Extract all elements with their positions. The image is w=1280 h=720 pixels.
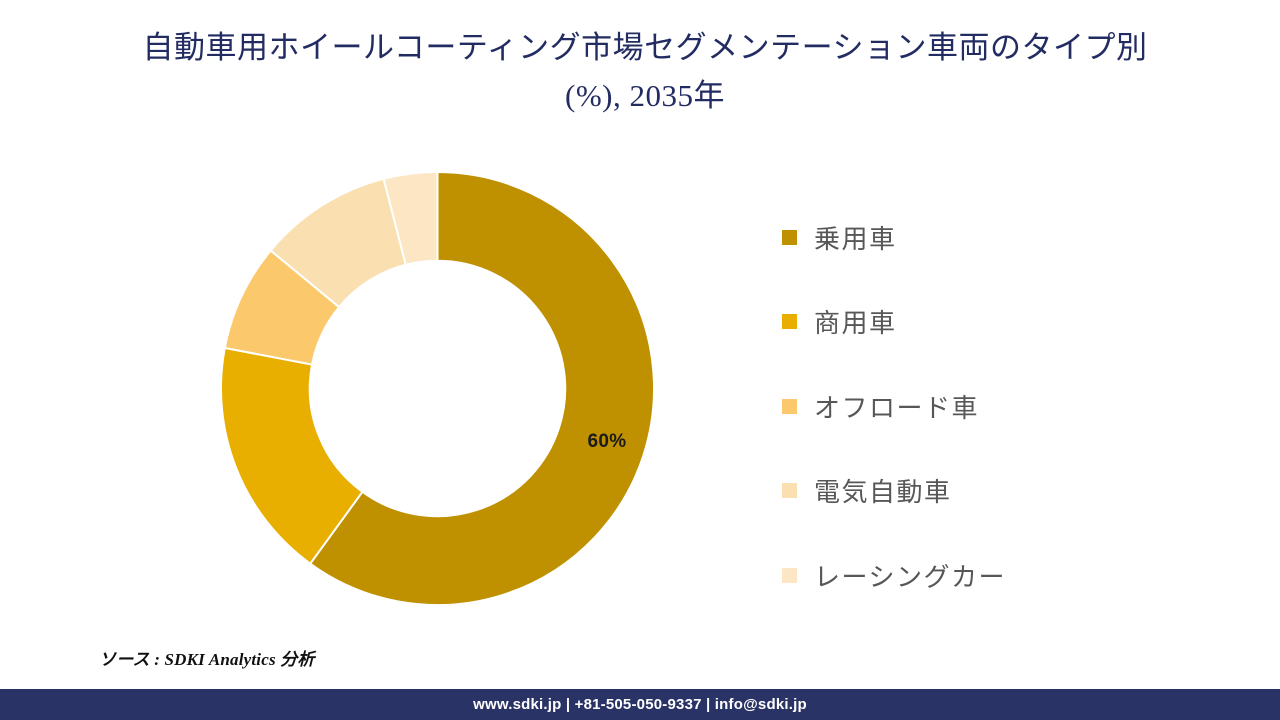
donut-slice-group <box>221 172 654 605</box>
legend-swatch-icon <box>782 568 797 583</box>
legend-item-label: 商用車 <box>814 303 897 340</box>
legend-item-label: 電気自動車 <box>814 472 952 509</box>
footer-bar: www.sdki.jp | +81-505-050-9337 | info@sd… <box>0 689 1280 720</box>
legend-swatch-icon <box>782 230 797 245</box>
legend-swatch-icon <box>782 399 797 414</box>
legend-item-label: オフロード車 <box>814 388 979 425</box>
legend-item-electric-vehicle[interactable]: 電気自動車 <box>782 449 1222 534</box>
page-title: 自動車用ホイールコーティング市場セグメンテーション車両のタイプ別 (%), 20… <box>50 24 1240 120</box>
slice-data-label-passenger-car: 60% <box>576 431 638 453</box>
footer-contact-text: www.sdki.jp | +81-505-050-9337 | info@sd… <box>473 696 807 713</box>
source-note: ソース : SDKI Analytics 分析 <box>99 645 315 670</box>
legend-item-passenger-car[interactable]: 乗用車 <box>782 195 1222 280</box>
legend-item-off-road-vehicle[interactable]: オフロード車 <box>782 364 1222 449</box>
chart-page: 自動車用ホイールコーティング市場セグメンテーション車両のタイプ別 (%), 20… <box>0 0 1280 720</box>
donut-chart-svg <box>221 172 654 605</box>
donut-chart <box>221 172 654 605</box>
legend-item-label: レーシングカー <box>814 557 1006 594</box>
legend-item-commercial-vehicle[interactable]: 商用車 <box>782 280 1222 365</box>
legend-item-label: 乗用車 <box>814 219 897 256</box>
legend-item-racing-car[interactable]: レーシングカー <box>782 533 1222 618</box>
chart-legend: 乗用車 商用車 オフロード車 電気自動車 レーシングカー <box>782 195 1222 618</box>
legend-swatch-icon <box>782 314 797 329</box>
legend-swatch-icon <box>782 483 797 498</box>
